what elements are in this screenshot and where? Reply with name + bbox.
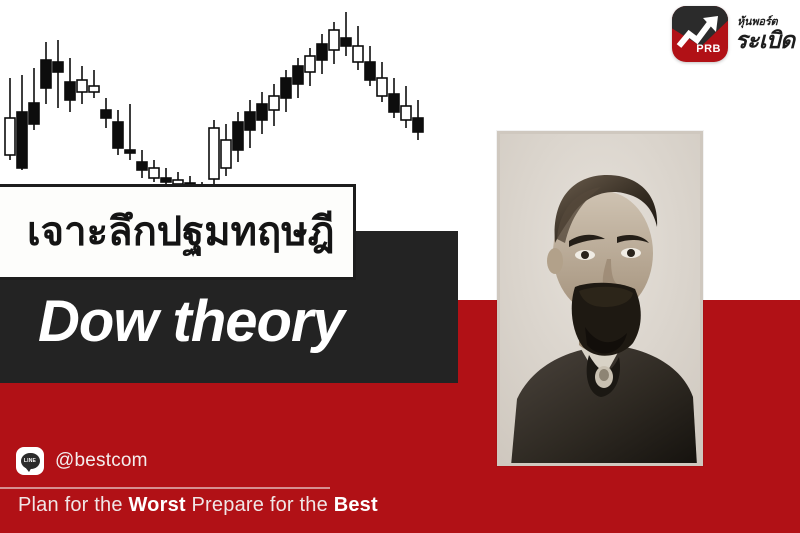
candle-body [365, 62, 375, 80]
candle-body [137, 162, 147, 170]
tagline: Plan for the Worst Prepare for the Best [18, 494, 378, 517]
line-app-icon[interactable]: LINE [16, 447, 44, 475]
candle-body [53, 62, 63, 72]
candle-body [209, 128, 219, 179]
contact-handle-row[interactable]: LINE @bestcom [16, 447, 148, 475]
candle-body [413, 118, 423, 132]
brand-logo[interactable]: PRB หุ้นพอร์ต ระเบิด [672, 6, 795, 62]
line-icon-label: LINE [24, 458, 36, 464]
candle-body [233, 122, 243, 150]
tagline-bold-worst: Worst [128, 494, 185, 516]
logo-mark: PRB [672, 6, 728, 62]
candle-body [245, 112, 255, 130]
candle-body [5, 118, 15, 155]
tagline-part2: Prepare for the [186, 494, 334, 516]
tagline-bold-best: Best [334, 494, 378, 516]
thai-title-banner: เจาะลึกปฐมทฤษฎี [0, 184, 356, 280]
candle-body [29, 103, 39, 124]
candle-body [317, 44, 327, 60]
logo-wordmark-big: ระเบิด [735, 29, 795, 52]
logo-wordmark: หุ้นพอร์ต ระเบิด [735, 17, 795, 52]
candle-body [161, 178, 171, 182]
tagline-divider [0, 487, 330, 489]
logo-mark-text: PRB [696, 43, 721, 55]
contact-handle-text: @bestcom [55, 450, 148, 472]
candle-body [77, 80, 87, 92]
candle-body [257, 104, 267, 120]
candle-body [41, 60, 51, 88]
candle-body [281, 78, 291, 98]
candle-body [401, 106, 411, 120]
candle-body [17, 112, 27, 168]
candle-body [293, 66, 303, 84]
candle-body [269, 96, 279, 110]
candle-body [353, 46, 363, 62]
candle-body [389, 94, 399, 112]
candle-body [329, 30, 339, 50]
portrait-image [497, 131, 703, 466]
speech-bubble-icon: LINE [21, 453, 40, 469]
logo-wordmark-small: หุ้นพอร์ต [737, 17, 795, 28]
english-title-text: Dow theory [38, 288, 344, 355]
candle-body [341, 38, 351, 46]
candle-body [113, 122, 123, 148]
candle-body [65, 82, 75, 100]
candle-body [89, 86, 99, 92]
candle-body [221, 140, 231, 168]
candle-body [101, 110, 111, 118]
candle-body [377, 78, 387, 96]
candle-body [305, 56, 315, 72]
charles-dow-portrait [497, 131, 703, 466]
candle-body [149, 168, 159, 178]
thai-title-text: เจาะลึกปฐมทฤษฎี [27, 212, 334, 252]
poster-canvas: Dow theory เจาะลึกปฐมทฤษฎี PRB หุ้นพอร์ต… [0, 0, 800, 533]
red-panel-right [705, 300, 800, 533]
candle-body [125, 150, 135, 153]
tagline-part1: Plan for the [18, 494, 128, 516]
